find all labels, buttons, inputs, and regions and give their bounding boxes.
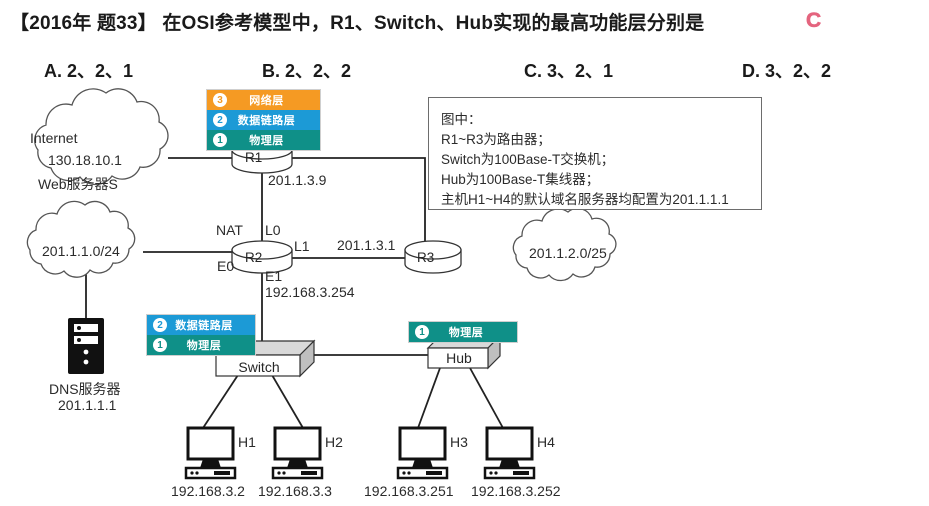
r2-nat-label: NAT	[216, 222, 243, 238]
slide-canvas: 【2016年 题33】 在OSI参考模型中，R1、Switch、Hub实现的最高…	[0, 0, 929, 506]
host-label-h2: H2	[325, 434, 343, 450]
host-icon-h2	[273, 428, 322, 478]
router-r1-label: R1	[245, 150, 262, 165]
router-r3-label: R3	[417, 250, 434, 265]
layer-row-datalink: 2 数据链路层	[207, 110, 320, 130]
host-label-h3: H3	[450, 434, 468, 450]
hub-label: Hub	[435, 350, 483, 366]
internet-cloud-label: Internet	[30, 130, 77, 146]
internet-cloud-server: Web服务器S	[38, 174, 118, 194]
layer-row-datalink: 2 数据链路层	[147, 315, 255, 335]
r2-e1-ip-label: 192.168.3.254	[265, 284, 355, 300]
layer-name: 物理层	[227, 132, 320, 148]
layer-row-physical: 1 物理层	[409, 322, 517, 342]
r1-ip-label: 201.1.3.9	[268, 172, 326, 188]
r2-if-l0-label: L0	[265, 222, 281, 238]
host-ip-h4: 192.168.3.252	[471, 483, 561, 499]
dns-server-icon	[68, 318, 104, 374]
layer-number: 1	[415, 325, 429, 339]
dns-server-ip: 201.1.1.1	[58, 397, 116, 413]
layer-name: 数据链路层	[167, 317, 255, 333]
note-line-4: Hub为100Base-T集线器；	[441, 168, 599, 188]
note-line-3: Switch为100Base-T交换机；	[441, 148, 614, 168]
layer-number: 1	[213, 133, 227, 147]
r2-if-l1-label: L1	[294, 238, 310, 254]
r2-if-e1-label: E1	[265, 268, 282, 284]
link-hub-h3	[418, 368, 440, 428]
host-label-h4: H4	[537, 434, 555, 450]
layer-row-physical: 1 物理层	[147, 335, 255, 355]
layer-name: 数据链路层	[227, 112, 320, 128]
router-r2-label: R2	[245, 250, 262, 265]
layer-name: 物理层	[429, 324, 517, 340]
layer-number: 1	[153, 338, 167, 352]
link-switch-h1	[203, 375, 238, 428]
host-icon-h1	[186, 428, 235, 478]
dns-server-label: DNS服务器	[49, 379, 121, 399]
host-label-h1: H1	[238, 434, 256, 450]
note-box: 图中： R1~R3为路由器； Switch为100Base-T交换机； Hub为…	[428, 97, 762, 210]
lan-right-label: 201.1.2.0/25	[529, 245, 607, 261]
layer-stack-switch: 2 数据链路层 1 物理层	[146, 314, 256, 356]
note-line-2: R1~R3为路由器；	[441, 128, 551, 148]
layer-number: 3	[213, 93, 227, 107]
layer-number: 2	[153, 318, 167, 332]
layer-row-network: 3 网络层	[207, 90, 320, 110]
link-hub-h4	[470, 368, 503, 428]
host-icon-h4	[485, 428, 534, 478]
host-ip-h3: 192.168.3.251	[364, 483, 454, 499]
layer-stack-r1: 3 网络层 2 数据链路层 1 物理层	[206, 89, 321, 151]
layer-name: 网络层	[227, 92, 320, 108]
r2-if-e0-label: E0	[217, 258, 234, 274]
note-line-1: 图中：	[441, 108, 482, 128]
cloud-lan-left	[27, 201, 134, 277]
link-switch-h2	[272, 375, 303, 428]
layer-name: 物理层	[167, 337, 255, 353]
host-icon-h3	[398, 428, 447, 478]
network-diagram	[0, 0, 929, 506]
host-ip-h2: 192.168.3.3	[258, 483, 332, 499]
r2-r3-link-ip: 201.1.3.1	[337, 237, 395, 253]
switch-label: Switch	[228, 359, 290, 375]
note-line-5: 主机H1~H4的默认域名服务器均配置为201.1.1.1	[441, 188, 729, 208]
layer-row-physical: 1 物理层	[207, 130, 320, 150]
host-ip-h1: 192.168.3.2	[171, 483, 245, 499]
layer-stack-hub: 1 物理层	[408, 321, 518, 343]
layer-number: 2	[213, 113, 227, 127]
internet-cloud-ip: 130.18.10.1	[48, 152, 122, 168]
lan-left-label: 201.1.1.0/24	[42, 243, 120, 259]
